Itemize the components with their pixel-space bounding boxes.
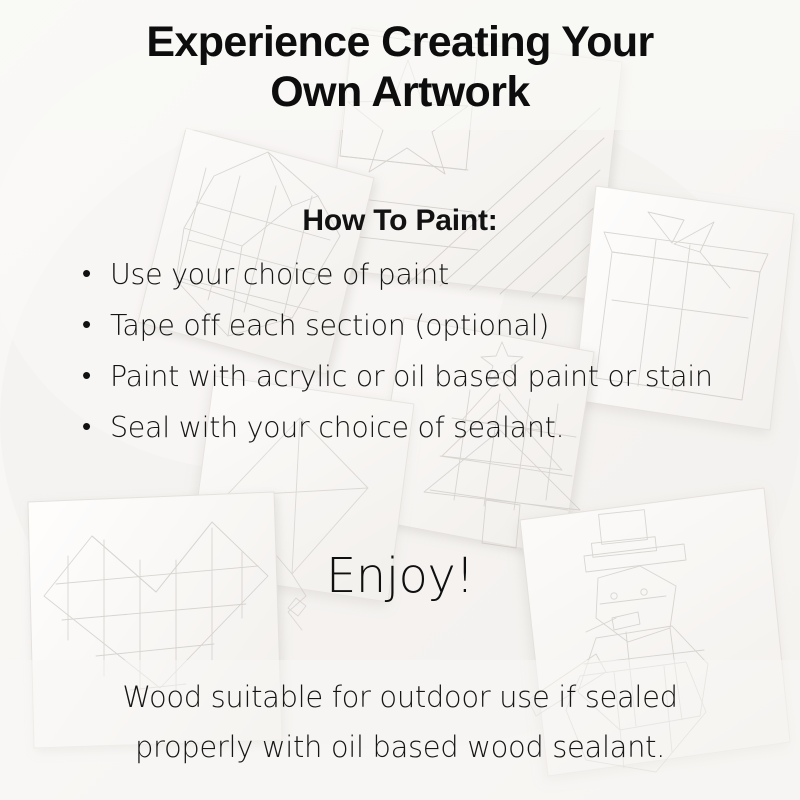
step-text: Tape off each section (optional) [110, 309, 549, 342]
list-item: • Use your choice of paint [78, 249, 760, 300]
headline-line-2: Own Artwork [270, 68, 529, 116]
enjoy-text: Enjoy! [0, 548, 800, 604]
bullet-icon: • [82, 300, 91, 351]
step-text: Seal with your choice of sealant. [110, 411, 564, 444]
list-item: • Paint with acrylic or oil based paint … [78, 351, 760, 402]
bullet-icon: • [82, 249, 91, 300]
step-text: Paint with acrylic or oil based paint or… [110, 360, 713, 393]
text-overlay: Experience Creating Your Own Artwork How… [0, 0, 800, 800]
step-text: Use your choice of paint [110, 258, 449, 291]
infographic-canvas: Experience Creating Your Own Artwork How… [0, 0, 800, 800]
how-to-paint-heading: How To Paint: [0, 204, 800, 238]
bullet-icon: • [82, 402, 91, 453]
footnote-line-1: Wood suitable for outdoor use if sealed [122, 680, 677, 714]
footnote: Wood suitable for outdoor use if sealed … [0, 672, 800, 772]
how-to-paint-steps-list: • Use your choice of paint • Tape off ea… [78, 249, 760, 453]
list-item: • Seal with your choice of sealant. [78, 402, 760, 453]
footnote-line-2: properly with oil based wood sealant. [135, 730, 665, 764]
page-title: Experience Creating Your Own Artwork [0, 18, 800, 118]
list-item: • Tape off each section (optional) [78, 300, 760, 351]
bullet-icon: • [82, 351, 91, 402]
headline-line-1: Experience Creating Your [146, 18, 653, 66]
